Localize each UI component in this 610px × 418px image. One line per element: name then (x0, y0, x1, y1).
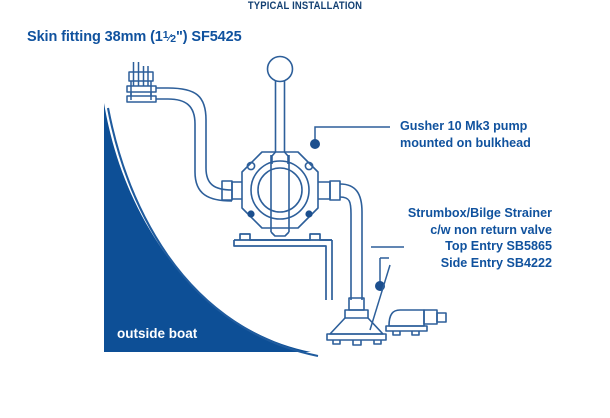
callout-pump-line2: mounted on bulkhead (400, 135, 531, 152)
pump-mounting-bracket (234, 234, 332, 300)
outside-boat-label: outside boat (117, 326, 197, 341)
leader-dot-pump (310, 139, 320, 149)
callout-strainer-line2: c/w non return valve (408, 222, 552, 239)
callout-strainer: Strumbox/Bilge Strainer c/w non return v… (408, 205, 552, 271)
diagram-canvas: Skin fitting 38mm (11⁄2") SF5425 Gusher … (0, 0, 610, 418)
callout-strainer-side-entry: Side Entry SB4222 (408, 255, 552, 272)
fraction-numerator: 1 (163, 29, 169, 41)
boat-hull-section (104, 103, 318, 356)
title-suffix: ") SF5425 (176, 29, 242, 45)
callout-strainer-top-entry: Top Entry SB5865 (408, 238, 552, 255)
suction-hose (340, 184, 362, 300)
callout-pump-line1: Gusher 10 Mk3 pump (400, 118, 531, 135)
page-title: Skin fitting 38mm (11⁄2") SF5425 (27, 29, 242, 45)
title-fraction: 1⁄2 (163, 32, 176, 44)
skin-fitting-through-hull (127, 62, 168, 102)
fraction-denominator: 2 (170, 33, 176, 45)
title-prefix: Skin fitting 38mm (1 (27, 29, 163, 45)
diagram-caption: TYPICAL INSTALLATION (43, 0, 568, 12)
gusher-10-mk3-pump (222, 152, 340, 236)
callout-strainer-line1: Strumbox/Bilge Strainer (408, 205, 552, 222)
side-entry-strumbox (386, 310, 446, 335)
leader-lines (310, 127, 404, 330)
pump-handle-lever (268, 57, 293, 165)
callout-pump: Gusher 10 Mk3 pump mounted on bulkhead (400, 118, 531, 151)
